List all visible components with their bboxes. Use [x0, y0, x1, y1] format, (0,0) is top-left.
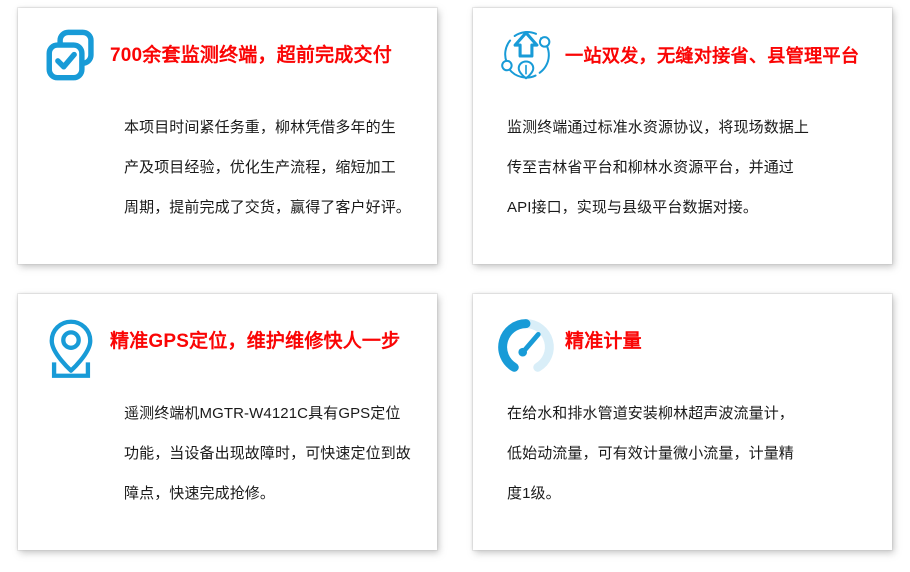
card-body-line: 本项目时间紧任务重，柳林凭借多年的生	[124, 108, 419, 148]
copy-check-icon	[32, 22, 110, 102]
card-body-line: 监测终端通过标准水资源协议，将现场数据上	[507, 108, 872, 148]
card-body-line: 在给水和排水管道安装柳林超声波流量计，	[507, 394, 872, 434]
grid-cell-4: 精准计量 在给水和排水管道安装柳林超声波流量计， 低始动流量，可有效计量微小流量…	[455, 286, 910, 572]
grid-cell-2: 一站双发，无缝对接省、县管理平台 监测终端通过标准水资源协议，将现场数据上 传至…	[455, 0, 910, 286]
card-body: 遥测终端机MGTR-W4121C具有GPS定位 功能，当设备出现故障时，可快速定…	[32, 388, 421, 514]
card-body-line: 障点，快速完成抢修。	[124, 474, 419, 514]
upload-node-pin-icon	[487, 22, 565, 102]
card-body: 在给水和排水管道安装柳林超声波流量计， 低始动流量，可有效计量微小流量，计量精 …	[487, 388, 876, 514]
grid-cell-3: 精准GPS定位，维护维修快人一步 遥测终端机MGTR-W4121C具有GPS定位…	[0, 286, 455, 572]
grid-cell-1: 700余套监测终端，超前完成交付 本项目时间紧任务重，柳林凭借多年的生 产及项目…	[0, 0, 455, 286]
feature-card-dual-platform[interactable]: 一站双发，无缝对接省、县管理平台 监测终端通过标准水资源协议，将现场数据上 传至…	[473, 8, 892, 264]
gauge-icon	[487, 308, 565, 388]
card-body-line: 传至吉林省平台和柳林水资源平台，并通过	[507, 148, 872, 188]
card-body-line: API接口，实现与县级平台数据对接。	[507, 188, 872, 228]
feature-card-metering[interactable]: 精准计量 在给水和排水管道安装柳林超声波流量计， 低始动流量，可有效计量微小流量…	[473, 294, 892, 550]
card-body-line: 周期，提前完成了交货，赢得了客户好评。	[124, 188, 419, 228]
feature-card-grid: 700余套监测终端，超前完成交付 本项目时间紧任务重，柳林凭借多年的生 产及项目…	[0, 0, 910, 572]
card-body-line: 低始动流量，可有效计量微小流量，计量精	[507, 434, 872, 474]
feature-card-delivery[interactable]: 700余套监测终端，超前完成交付 本项目时间紧任务重，柳林凭借多年的生 产及项目…	[18, 8, 437, 264]
card-body-line: 度1级。	[507, 474, 872, 514]
feature-card-gps[interactable]: 精准GPS定位，维护维修快人一步 遥测终端机MGTR-W4121C具有GPS定位…	[18, 294, 437, 550]
card-body: 监测终端通过标准水资源协议，将现场数据上 传至吉林省平台和柳林水资源平台，并通过…	[487, 102, 876, 228]
card-body: 本项目时间紧任务重，柳林凭借多年的生 产及项目经验，优化生产流程，缩短加工 周期…	[32, 102, 421, 228]
card-body-line: 产及项目经验，优化生产流程，缩短加工	[124, 148, 419, 188]
map-pin-icon	[32, 308, 110, 388]
card-body-line: 遥测终端机MGTR-W4121C具有GPS定位	[124, 394, 419, 434]
card-body-line: 功能，当设备出现故障时，可快速定位到故	[124, 434, 419, 474]
